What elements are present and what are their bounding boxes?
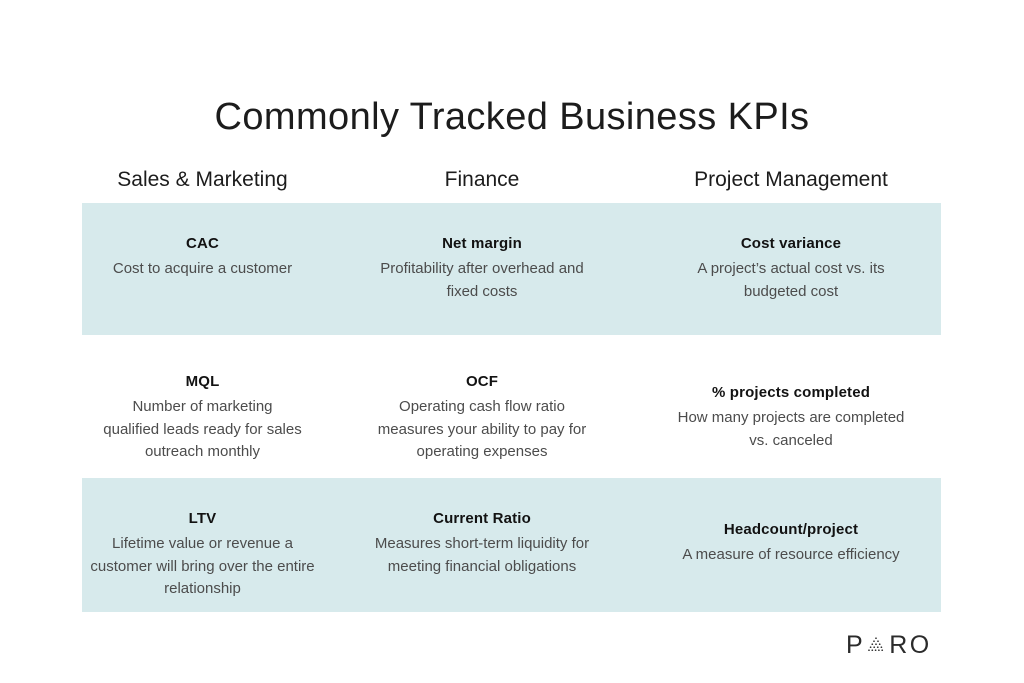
kpi-name: Net margin <box>323 233 641 255</box>
kpi-description: Lifetime value or revenue a customer wil… <box>83 533 323 601</box>
kpi-cell-ltv: LTV Lifetime value or revenue a customer… <box>82 478 323 612</box>
kpi-name: CAC <box>82 233 323 255</box>
logo-text-after: RO <box>889 633 932 658</box>
column-header-finance: Finance <box>323 168 641 191</box>
kpi-description: A measure of resource efficiency <box>671 544 911 567</box>
column-header-project-management: Project Management <box>641 168 941 191</box>
kpi-name: OCF <box>323 371 641 393</box>
kpi-cell-cost-variance: Cost variance A project’s actual cost vs… <box>641 203 941 335</box>
kpi-cell-percent-projects-completed: % projects completed How many projects a… <box>641 341 941 472</box>
kpi-cell-net-margin: Net margin Profitability after overhead … <box>323 203 641 335</box>
kpi-cell-ocf: OCF Operating cash flow ratio measures y… <box>323 341 641 472</box>
kpi-description: Number of marketing qualified leads read… <box>103 396 303 464</box>
kpi-cell-headcount-project: Headcount/project A measure of resource … <box>641 478 941 612</box>
kpi-name: % projects completed <box>641 382 941 404</box>
kpi-cell-cac: CAC Cost to acquire a customer <box>82 203 323 335</box>
kpi-cell-mql: MQL Number of marketing qualified leads … <box>82 341 323 472</box>
column-header-sales-marketing: Sales & Marketing <box>82 168 323 191</box>
table-row: LTV Lifetime value or revenue a customer… <box>82 478 941 612</box>
kpi-description: A project’s actual cost vs. its budgeted… <box>671 258 911 304</box>
kpi-table: Sales & Marketing Finance Project Manage… <box>82 168 941 612</box>
kpi-infographic-page: Commonly Tracked Business KPIs Sales & M… <box>0 0 1024 683</box>
table-row: MQL Number of marketing qualified leads … <box>82 341 941 472</box>
table-row: CAC Cost to acquire a customer Net margi… <box>82 203 941 335</box>
kpi-description: Operating cash flow ratio measures your … <box>366 396 598 464</box>
table-header-row: Sales & Marketing Finance Project Manage… <box>82 168 941 203</box>
kpi-name: LTV <box>82 508 323 530</box>
kpi-description: Measures short-term liquidity for meetin… <box>366 533 598 579</box>
kpi-name: MQL <box>82 371 323 393</box>
kpi-description: How many projects are completed vs. canc… <box>671 407 911 453</box>
kpi-cell-current-ratio: Current Ratio Measures short-term liquid… <box>323 478 641 612</box>
kpi-description: Cost to acquire a customer <box>103 258 303 281</box>
logo-text-before: P <box>846 633 865 658</box>
kpi-name: Current Ratio <box>323 508 641 530</box>
paro-logo: P <box>846 632 932 658</box>
kpi-name: Cost variance <box>641 233 941 255</box>
kpi-name: Headcount/project <box>641 519 941 541</box>
page-title: Commonly Tracked Business KPIs <box>0 95 1024 141</box>
kpi-description: Profitability after overhead and fixed c… <box>366 258 598 304</box>
dot-triangle-a-icon <box>866 635 886 655</box>
